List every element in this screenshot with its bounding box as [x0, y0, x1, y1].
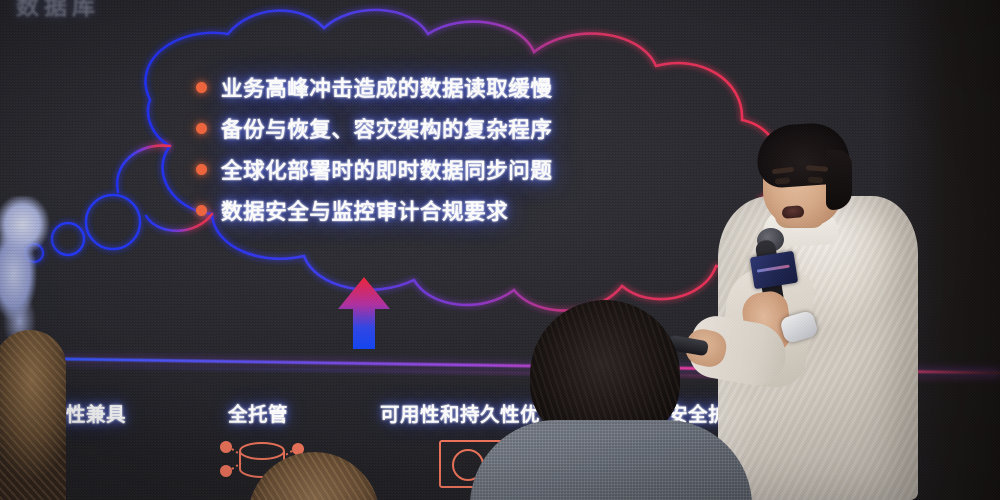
presenter-eye-right	[808, 177, 823, 184]
bullet-item: 备份与恢复、容灾架构的复杂程序	[196, 113, 553, 144]
bullet-dot-icon	[196, 82, 207, 93]
bullet-dot-icon	[196, 164, 207, 175]
thinking-person-illustration	[0, 196, 58, 338]
bullet-item: 全球化部署时的即时数据同步问题	[196, 154, 553, 185]
bullet-dot-icon	[196, 205, 207, 216]
feature-label: 可用性和持久性优	[380, 398, 540, 427]
bullet-item: 数据安全与监控审计合规要求	[196, 195, 553, 226]
foreground-attendee-head	[530, 300, 680, 440]
bullet-text: 全球化部署时的即时数据同步问题	[221, 154, 553, 185]
bullet-dot-icon	[196, 123, 207, 134]
bullet-text: 数据安全与监控审计合规要求	[221, 195, 508, 226]
feature-label: 全托管	[228, 398, 308, 427]
slide-top-clipped-title: 数据库	[16, 0, 100, 21]
bullet-text: 业务高峰冲击造成的数据读取缓慢	[221, 72, 553, 103]
microphone-flag-badge	[750, 251, 798, 289]
slide-bullet-list: 业务高峰冲击造成的数据读取缓慢 备份与恢复、容灾架构的复杂程序 全球化部署时的即…	[196, 72, 553, 226]
presenter-hair-side	[826, 150, 852, 210]
upward-arrow-graphic	[338, 277, 390, 349]
presenter-mouth	[782, 205, 805, 219]
presentation-photograph: 数据库	[0, 0, 1000, 500]
bullet-item: 业务高峰冲击造成的数据读取缓慢	[196, 72, 553, 103]
foreground-attendee-blazer	[470, 420, 752, 500]
attendee-left	[0, 330, 66, 500]
bullet-text: 备份与恢复、容灾架构的复杂程序	[221, 113, 553, 144]
